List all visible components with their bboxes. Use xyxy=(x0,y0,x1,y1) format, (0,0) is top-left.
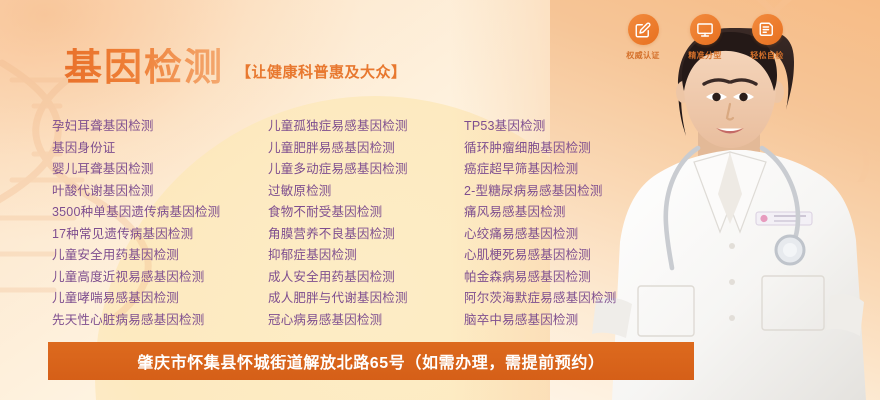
list-item[interactable]: 过敏原检测 xyxy=(268,181,464,203)
list-item[interactable]: 帕金森病易感基因检测 xyxy=(464,267,672,289)
list-item[interactable]: 17种常见遗传病基因检测 xyxy=(52,224,268,246)
address-bar: 肇庆市怀集县怀城街道解放北路65号（如需办理，需提前预约） xyxy=(48,342,694,380)
list-item[interactable]: 儿童孤独症易感基因检测 xyxy=(268,116,464,138)
list-item[interactable]: 癌症超早筛基因检测 xyxy=(464,159,672,181)
list-item[interactable]: 成人安全用药基因检测 xyxy=(268,267,464,289)
page-title-main: 基因检测 xyxy=(64,48,224,86)
list-item[interactable]: 成人肥胖与代谢基因检测 xyxy=(268,288,464,310)
page-title: 基因检测 【让健康科普惠及大众】 xyxy=(64,48,407,86)
feature-badges: 权威认证 精准分型 轻松自检 xyxy=(618,14,792,61)
list-item[interactable]: 2-型糖尿病易感基因检测 xyxy=(464,181,672,203)
document-report-icon xyxy=(752,14,783,45)
list-item[interactable]: 儿童肥胖易感基因检测 xyxy=(268,138,464,160)
list-item[interactable]: 冠心病易感基因检测 xyxy=(268,310,464,332)
list-item[interactable]: 儿童多动症易感基因检测 xyxy=(268,159,464,181)
list-item[interactable]: 循环肿瘤细胞基因检测 xyxy=(464,138,672,160)
list-item[interactable]: 痛风易感基因检测 xyxy=(464,202,672,224)
monitor-icon xyxy=(690,14,721,45)
list-item[interactable]: 先天性心脏病易感基因检测 xyxy=(52,310,268,332)
list-item[interactable]: 儿童安全用药基因检测 xyxy=(52,245,268,267)
feature-badge-label: 精准分型 xyxy=(688,50,722,61)
gene-test-column-2: 儿童孤独症易感基因检测 儿童肥胖易感基因检测 儿童多动症易感基因检测 过敏原检测… xyxy=(268,116,464,331)
list-item[interactable]: 抑郁症基因检测 xyxy=(268,245,464,267)
feature-badge-label: 权威认证 xyxy=(626,50,660,61)
list-item[interactable]: 食物不耐受基因检测 xyxy=(268,202,464,224)
list-item[interactable]: 儿童哮喘易感基因检测 xyxy=(52,288,268,310)
edit-square-icon xyxy=(628,14,659,45)
list-item[interactable]: 角膜营养不良基因检测 xyxy=(268,224,464,246)
gene-test-column-1: 孕妇耳聋基因检测 基因身份证 婴儿耳聋基因检测 叶酸代谢基因检测 3500种单基… xyxy=(52,116,268,331)
list-item[interactable]: 孕妇耳聋基因检测 xyxy=(52,116,268,138)
list-item[interactable]: 心绞痛易感基因检测 xyxy=(464,224,672,246)
list-item[interactable]: 脑卒中易感基因检测 xyxy=(464,310,672,332)
gene-test-column-3: TP53基因检测 循环肿瘤细胞基因检测 癌症超早筛基因检测 2-型糖尿病易感基因… xyxy=(464,116,672,331)
gene-test-list: 孕妇耳聋基因检测 基因身份证 婴儿耳聋基因检测 叶酸代谢基因检测 3500种单基… xyxy=(52,116,672,331)
list-item[interactable]: 3500种单基因遗传病基因检测 xyxy=(52,202,268,224)
address-text: 肇庆市怀集县怀城街道解放北路65号（如需办理，需提前预约） xyxy=(137,349,604,373)
feature-badge-label: 轻松自检 xyxy=(750,50,784,61)
list-item[interactable]: 儿童高度近视易感基因检测 xyxy=(52,267,268,289)
list-item[interactable]: 心肌梗死易感基因检测 xyxy=(464,245,672,267)
page-title-subtitle: 【让健康科普惠及大众】 xyxy=(236,61,407,86)
feature-badge-authoritative-certification[interactable]: 权威认证 xyxy=(618,14,668,61)
list-item[interactable]: 婴儿耳聋基因检测 xyxy=(52,159,268,181)
list-item[interactable]: 阿尔茨海默症易感基因检测 xyxy=(464,288,672,310)
feature-badge-easy-self-test[interactable]: 轻松自检 xyxy=(742,14,792,61)
list-item[interactable]: TP53基因检测 xyxy=(464,116,672,138)
list-item[interactable]: 叶酸代谢基因检测 xyxy=(52,181,268,203)
promo-poster: 基因检测 【让健康科普惠及大众】 权威认证 精准分型 xyxy=(0,0,880,400)
list-item[interactable]: 基因身份证 xyxy=(52,138,268,160)
feature-badge-precise-typing[interactable]: 精准分型 xyxy=(680,14,730,61)
